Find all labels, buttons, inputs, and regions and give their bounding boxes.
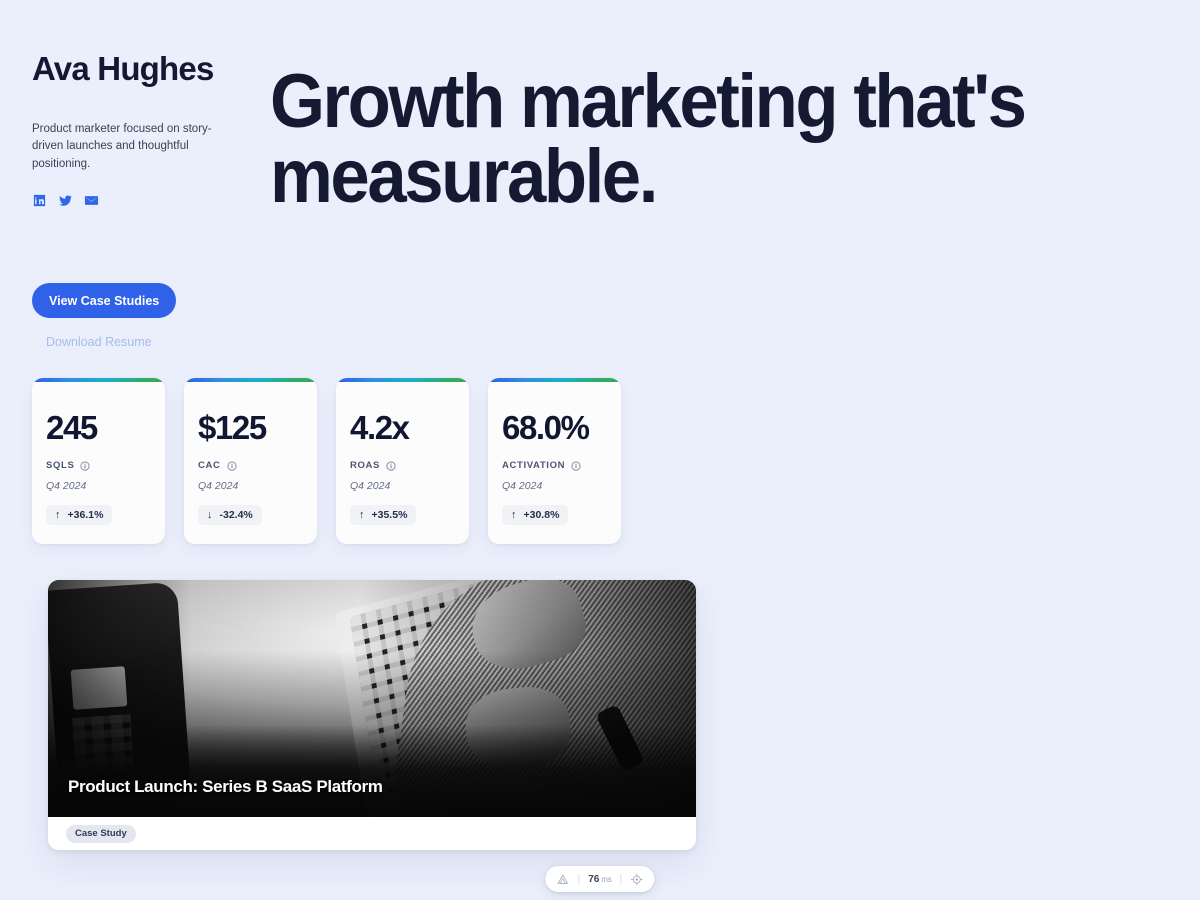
metric-card-roas[interactable]: 4.2x ROAS Q4 2024 ↑ +35.5%	[336, 378, 469, 544]
metric-period: Q4 2024	[502, 480, 607, 492]
metrics-row: 245 SQLS Q4 2024 ↑ +36.1% $125 CAC	[32, 378, 621, 544]
metric-delta-badge: ↑ +35.5%	[350, 505, 416, 525]
dev-timing: 76ms	[588, 874, 611, 885]
metric-value: 68.0%	[502, 411, 607, 444]
metric-label: CAC	[198, 460, 221, 471]
download-resume-link[interactable]: Download Resume	[46, 335, 152, 349]
target-settings-icon[interactable]	[631, 873, 644, 886]
bio-text: Product marketer focused on story-driven…	[32, 121, 232, 173]
twitter-icon[interactable]	[58, 193, 73, 208]
dev-timing-unit: ms	[601, 875, 611, 884]
metric-label-row: SQLS	[46, 460, 151, 471]
case-study-title: Product Launch: Series B SaaS Platform	[68, 777, 383, 797]
dev-timing-value: 76	[588, 874, 599, 885]
hero-headline: Growth marketing that's measurable.	[270, 64, 1088, 214]
gradient-accent-bar	[32, 378, 165, 382]
info-icon[interactable]	[386, 461, 396, 471]
metric-card-cac[interactable]: $125 CAC Q4 2024 ↓ -32.4%	[184, 378, 317, 544]
metric-value: 245	[46, 411, 151, 444]
metric-label: ROAS	[350, 460, 380, 471]
metric-delta-value: +35.5%	[372, 509, 408, 521]
metric-label-row: ROAS	[350, 460, 455, 471]
case-study-footer: Case Study	[48, 817, 696, 850]
metric-delta-badge: ↑ +36.1%	[46, 505, 112, 525]
metric-period: Q4 2024	[46, 480, 151, 492]
metric-delta-value: +30.8%	[524, 509, 560, 521]
cta-group: View Case Studies Download Resume	[32, 283, 176, 349]
info-icon[interactable]	[571, 461, 581, 471]
page-title: Ava Hughes	[32, 52, 242, 87]
linkedin-icon[interactable]	[32, 193, 47, 208]
metric-card-sqls[interactable]: 245 SQLS Q4 2024 ↑ +36.1%	[32, 378, 165, 544]
metric-delta-value: +36.1%	[68, 509, 104, 521]
case-study-media: Product Launch: Series B SaaS Platform	[48, 580, 696, 817]
divider	[621, 874, 622, 885]
trend-arrow-icon: ↑	[359, 509, 365, 521]
trend-arrow-icon: ↓	[207, 509, 213, 521]
metric-delta-value: -32.4%	[220, 509, 253, 521]
metric-delta-badge: ↓ -32.4%	[198, 505, 262, 525]
social-links	[32, 193, 242, 208]
dev-toolbar[interactable]: 76ms	[545, 866, 654, 892]
info-icon[interactable]	[80, 461, 90, 471]
metric-period: Q4 2024	[350, 480, 455, 492]
metric-label-row: ACTIVATION	[502, 460, 607, 471]
metric-label: SQLS	[46, 460, 74, 471]
metric-label-row: CAC	[198, 460, 303, 471]
trend-arrow-icon: ↑	[55, 509, 61, 521]
portfolio-page: Ava Hughes Product marketer focused on s…	[0, 0, 1200, 900]
divider	[578, 874, 579, 885]
gradient-accent-bar	[488, 378, 621, 382]
metric-value: $125	[198, 411, 303, 444]
trend-arrow-icon: ↑	[511, 509, 517, 521]
hero-section: Ava Hughes Product marketer focused on s…	[0, 0, 1200, 372]
metric-card-activation[interactable]: 68.0% ACTIVATION Q4 2024 ↑ +30.8%	[488, 378, 621, 544]
email-icon[interactable]	[84, 193, 99, 208]
gradient-accent-bar	[336, 378, 469, 382]
case-study-card[interactable]: Product Launch: Series B SaaS Platform C…	[48, 580, 696, 850]
metric-label: ACTIVATION	[502, 460, 565, 471]
metric-delta-badge: ↑ +30.8%	[502, 505, 568, 525]
nextjs-triangle-icon[interactable]	[556, 873, 569, 886]
identity-block: Ava Hughes Product marketer focused on s…	[32, 52, 242, 208]
status-badge: Case Study	[66, 825, 136, 843]
metric-period: Q4 2024	[198, 480, 303, 492]
view-case-studies-button[interactable]: View Case Studies	[32, 283, 176, 318]
metric-value: 4.2x	[350, 411, 455, 444]
gradient-accent-bar	[184, 378, 317, 382]
info-icon[interactable]	[227, 461, 237, 471]
